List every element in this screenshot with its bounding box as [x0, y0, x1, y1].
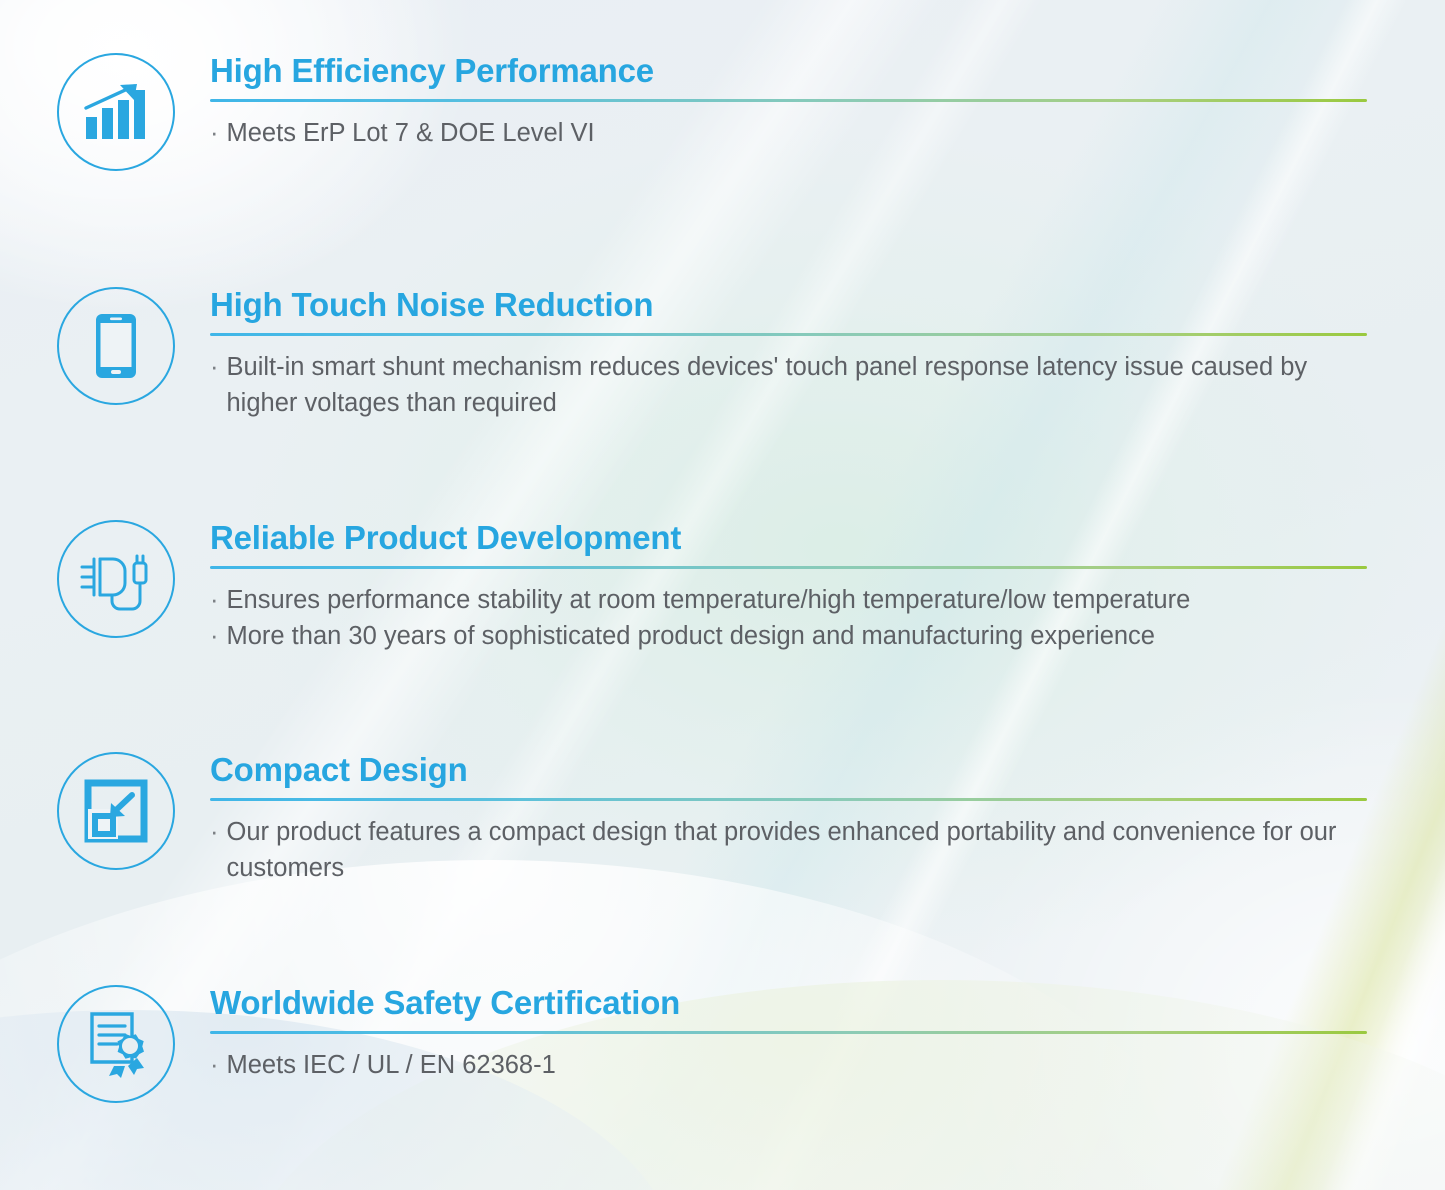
icon-circle-frame: [57, 752, 175, 870]
icon-circle-frame: [57, 287, 175, 405]
icon-circle-frame: [57, 520, 175, 638]
feature-icon-container: [57, 520, 175, 638]
feature-divider: [210, 99, 1367, 102]
feature-bullet-text: Meets ErP Lot 7 & DOE Level VI: [227, 115, 1371, 151]
feature-bullet-text: Our product features a compact design th…: [227, 814, 1371, 886]
bullet-marker: ·: [210, 349, 219, 385]
feature-title: High Touch Noise Reduction: [210, 287, 1370, 323]
feature-title: High Efficiency Performance: [210, 53, 1370, 89]
feature-bullet: · Meets IEC / UL / EN 62368-1: [210, 1047, 1370, 1083]
smartphone-icon: [94, 312, 138, 380]
feature-divider: [210, 798, 1367, 801]
bullet-marker: ·: [210, 618, 219, 654]
bar-chart-growth-icon: [82, 81, 150, 143]
feature-bullet-list: · Meets ErP Lot 7 & DOE Level VI: [210, 115, 1370, 151]
feature-title: Worldwide Safety Certification: [210, 985, 1370, 1021]
bullet-marker: ·: [210, 814, 219, 850]
feature-icon-container: [57, 53, 175, 171]
feature-icon-container: [57, 985, 175, 1103]
feature-divider: [210, 566, 1367, 569]
feature-text-column: Reliable Product Development · Ensures p…: [210, 520, 1370, 654]
feature-bullet-text: Built-in smart shunt mechanism reduces d…: [227, 349, 1371, 421]
feature-title: Compact Design: [210, 752, 1370, 788]
feature-bullet-text: Ensures performance stability at room te…: [227, 582, 1371, 618]
feature-title: Reliable Product Development: [210, 520, 1370, 556]
power-adapter-icon: [80, 545, 152, 613]
bullet-marker: ·: [210, 115, 219, 151]
compact-resize-icon: [84, 779, 148, 843]
certificate-seal-icon: [84, 1010, 148, 1078]
feature-bullet: · Our product features a compact design …: [210, 814, 1370, 886]
feature-highlights-page: High Efficiency Performance · Meets ErP …: [0, 0, 1445, 1190]
icon-circle-frame: [57, 53, 175, 171]
feature-bullet-list: · Built-in smart shunt mechanism reduces…: [210, 349, 1370, 421]
icon-circle-frame: [57, 985, 175, 1103]
feature-bullet-list: · Ensures performance stability at room …: [210, 582, 1370, 654]
feature-bullet: · Built-in smart shunt mechanism reduces…: [210, 349, 1370, 421]
feature-bullet-text: More than 30 years of sophisticated prod…: [227, 618, 1371, 654]
feature-text-column: Compact Design · Our product features a …: [210, 752, 1370, 886]
feature-text-column: High Efficiency Performance · Meets ErP …: [210, 53, 1370, 151]
feature-divider: [210, 333, 1367, 336]
bullet-marker: ·: [210, 582, 219, 618]
feature-bullet: · Meets ErP Lot 7 & DOE Level VI: [210, 115, 1370, 151]
feature-bullet: · Ensures performance stability at room …: [210, 582, 1370, 618]
feature-icon-container: [57, 287, 175, 405]
feature-icon-container: [57, 752, 175, 870]
feature-divider: [210, 1031, 1367, 1034]
bullet-marker: ·: [210, 1047, 219, 1083]
feature-bullet: · More than 30 years of sophisticated pr…: [210, 618, 1370, 654]
feature-text-column: High Touch Noise Reduction · Built-in sm…: [210, 287, 1370, 421]
feature-text-column: Worldwide Safety Certification · Meets I…: [210, 985, 1370, 1083]
feature-bullet-text: Meets IEC / UL / EN 62368-1: [227, 1047, 1371, 1083]
feature-bullet-list: · Our product features a compact design …: [210, 814, 1370, 886]
feature-bullet-list: · Meets IEC / UL / EN 62368-1: [210, 1047, 1370, 1083]
